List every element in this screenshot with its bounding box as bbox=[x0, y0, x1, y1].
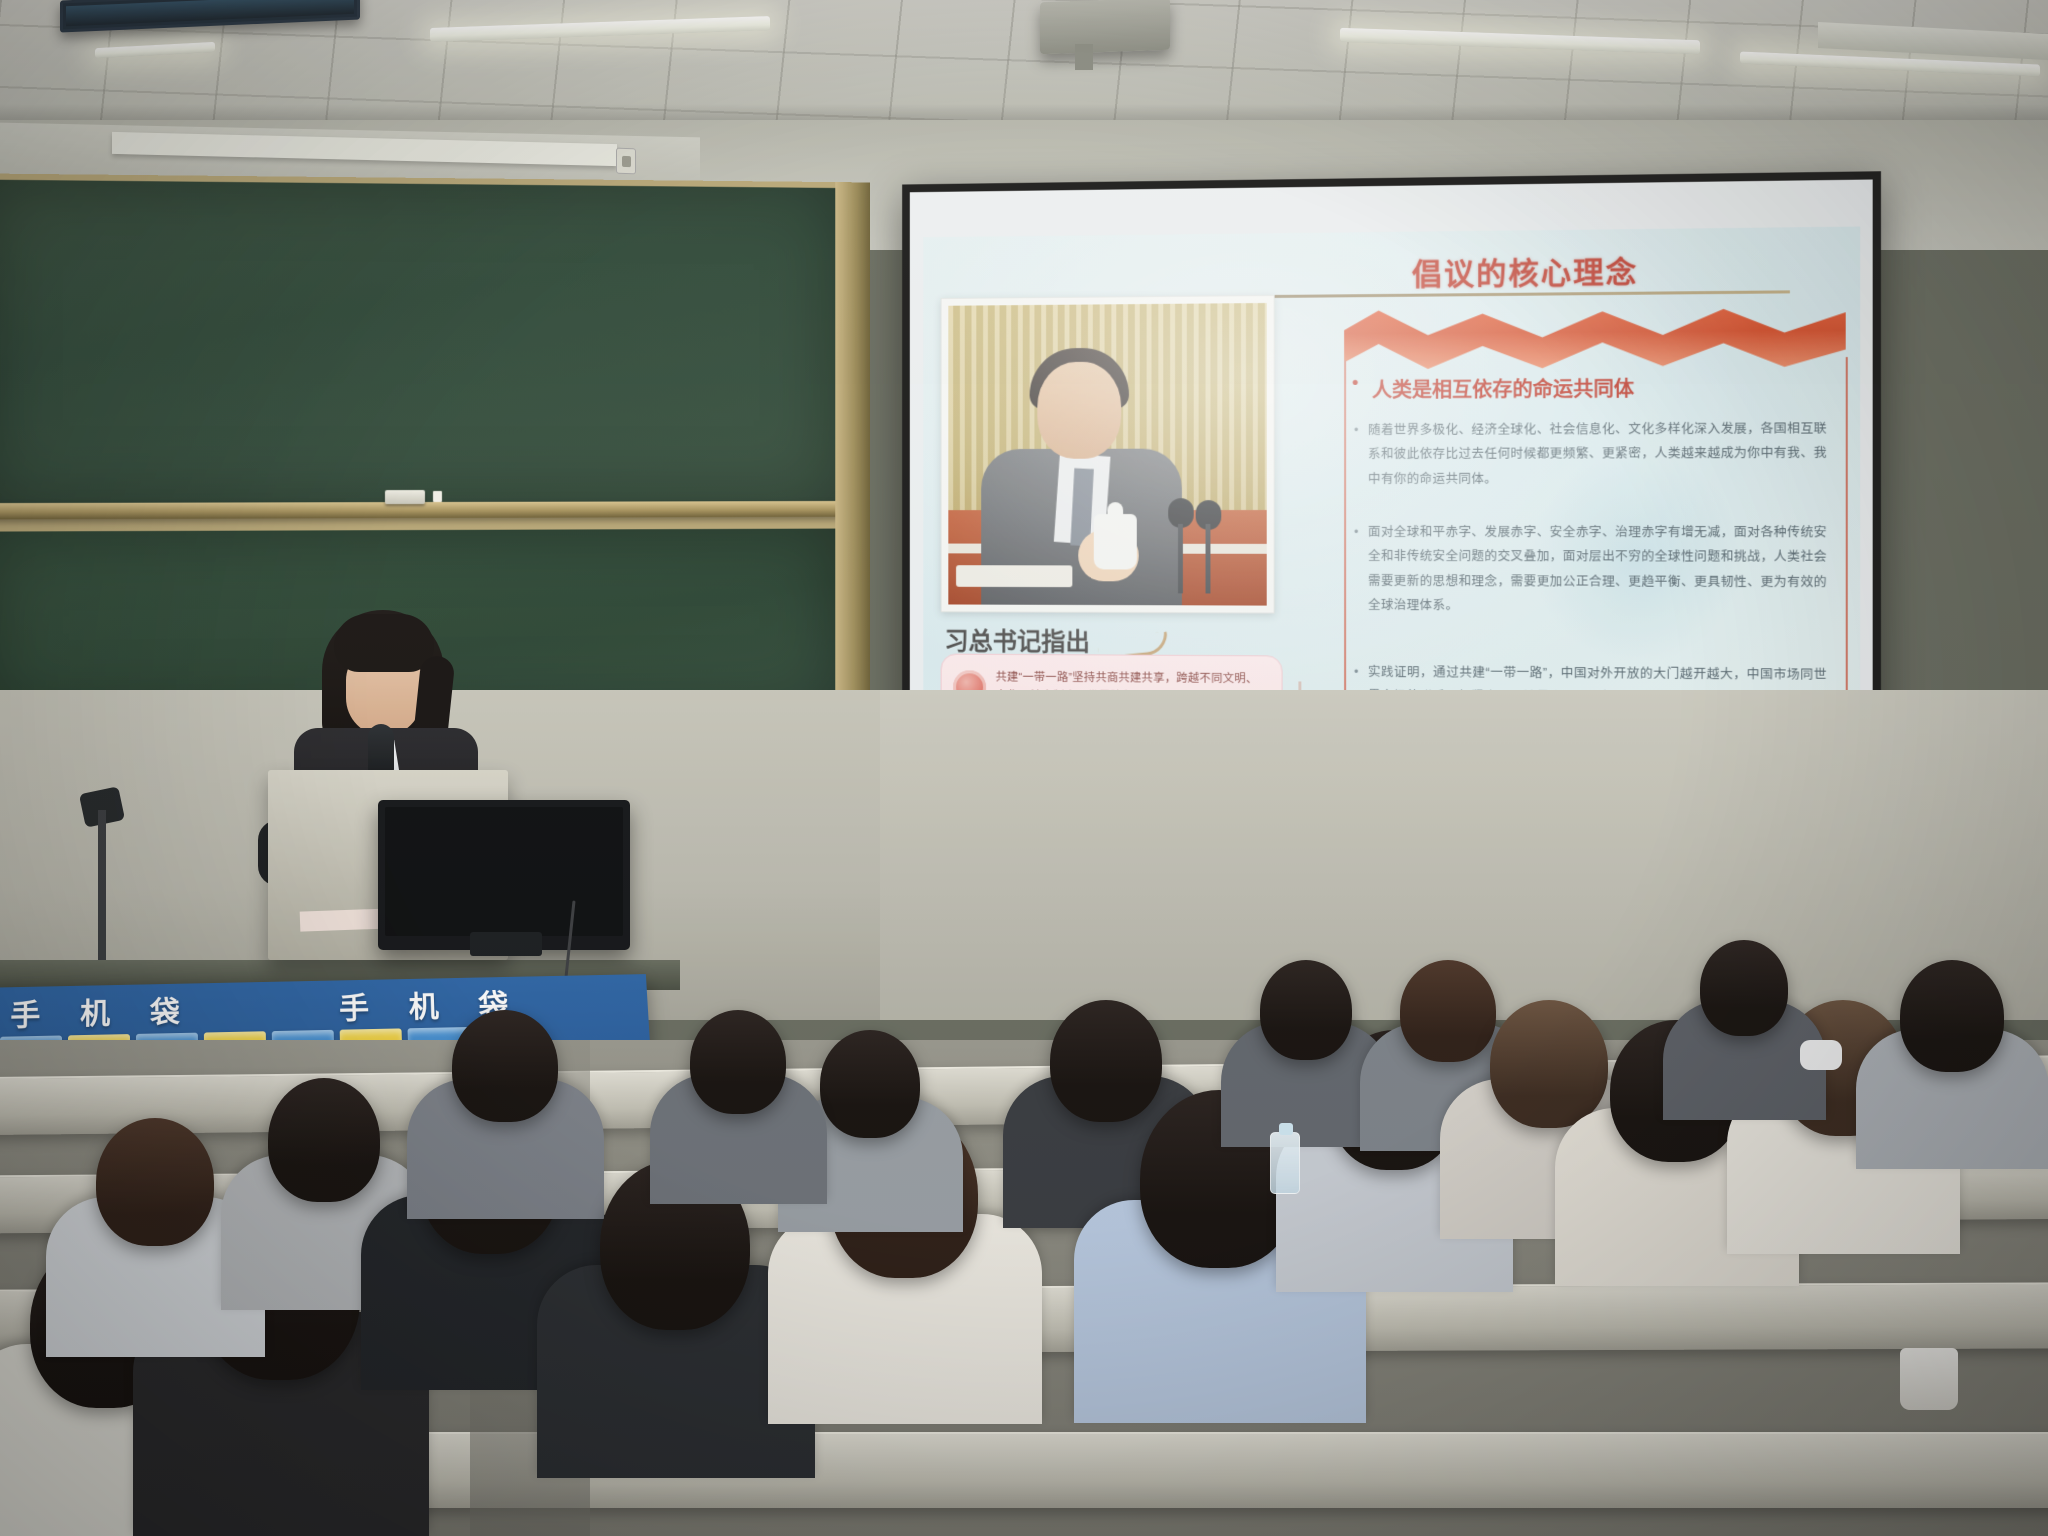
water-bottle[interactable] bbox=[1270, 1132, 1300, 1194]
phone-pocket-title-char: 机 bbox=[408, 982, 445, 1026]
content-heading: 人类是相互依存的命运共同体 bbox=[1372, 373, 1634, 403]
audience-member-head bbox=[1260, 960, 1352, 1060]
content-paragraph: 随着世界多极化、经济全球化、社会信息化、文化多样化深入发展，各国相互联系和彼此依… bbox=[1368, 416, 1827, 491]
ceiling-projector bbox=[1040, 0, 1170, 54]
phone-pocket-title: 手 机 袋 手 机 袋 bbox=[0, 978, 649, 1035]
face-mask bbox=[1800, 1040, 1842, 1070]
audience-member-head bbox=[1490, 1000, 1608, 1128]
podium-monitor[interactable] bbox=[378, 800, 630, 950]
monitor-stand bbox=[470, 932, 542, 956]
photo-person-head bbox=[1037, 362, 1121, 459]
mic-stem bbox=[1178, 524, 1183, 593]
chalkboard-surface-upper bbox=[0, 180, 835, 506]
audience-member-head bbox=[1700, 940, 1788, 1036]
mic-stand bbox=[98, 810, 106, 960]
photo-document bbox=[956, 565, 1072, 587]
audience-member-head bbox=[452, 1010, 558, 1122]
audience-member-head bbox=[1050, 1000, 1162, 1122]
blackboard-right-frame bbox=[835, 182, 870, 718]
presenter-bangs bbox=[334, 614, 434, 672]
audience-member-head bbox=[1400, 960, 1496, 1062]
slide-photo-card bbox=[941, 295, 1275, 614]
phone-pocket-title-char: 手 bbox=[339, 984, 376, 1028]
paper-cup[interactable] bbox=[1900, 1348, 1958, 1410]
phone-pocket-title-char: 手 bbox=[10, 990, 46, 1034]
content-paragraph: 面对全球和平赤字、发展赤字、安全赤字、治理赤字有增无减，面对各种传统安全和非传统… bbox=[1368, 520, 1827, 619]
chalk-stick[interactable] bbox=[433, 491, 442, 502]
phone-pocket-title-char: 机 bbox=[80, 989, 116, 1033]
photo-teacup bbox=[1094, 514, 1137, 569]
mic-stem bbox=[1206, 524, 1211, 594]
projector-mount-arm bbox=[1075, 44, 1093, 70]
audience-member-head bbox=[268, 1078, 380, 1202]
wall-switch[interactable] bbox=[616, 148, 636, 175]
audience-member-head bbox=[96, 1118, 214, 1246]
slide-title: 倡议的核心理念 bbox=[1245, 245, 1811, 295]
eraser[interactable] bbox=[385, 490, 425, 504]
lecture-hall-photo: 倡议的核心理念 bbox=[0, 0, 2048, 1536]
audience-member-head bbox=[1900, 960, 2004, 1072]
phone-pocket-title-char: 袋 bbox=[150, 988, 186, 1032]
audience-member-head bbox=[690, 1010, 786, 1114]
slide-photo bbox=[948, 303, 1266, 606]
photo-microphones bbox=[1164, 498, 1233, 593]
audience-member-head bbox=[820, 1030, 920, 1138]
